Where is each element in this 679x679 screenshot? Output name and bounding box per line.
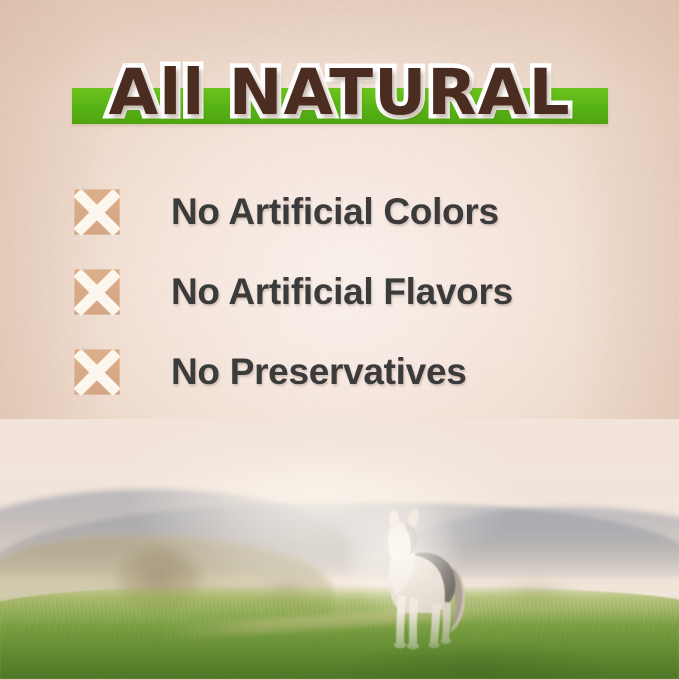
benefit-label: No Preservatives (171, 351, 467, 393)
x-mark-icon (74, 269, 120, 315)
headline-text: All NATURAL (0, 52, 679, 134)
benefit-label: No Artificial Flavors (171, 271, 513, 313)
x-mark-icon (74, 189, 120, 235)
all-natural-product-poster: All NATURAL No Artificial Colors No Arti… (0, 0, 679, 679)
benefit-row: No Artificial Colors (74, 172, 634, 252)
benefit-row: No Preservatives (74, 332, 634, 412)
headline-banner: All NATURAL (0, 52, 679, 138)
landscape-photo (0, 419, 679, 679)
benefit-row: No Artificial Flavors (74, 252, 634, 332)
x-mark-icon (74, 349, 120, 395)
foreground-grass (0, 613, 679, 679)
benefit-label: No Artificial Colors (171, 191, 499, 233)
